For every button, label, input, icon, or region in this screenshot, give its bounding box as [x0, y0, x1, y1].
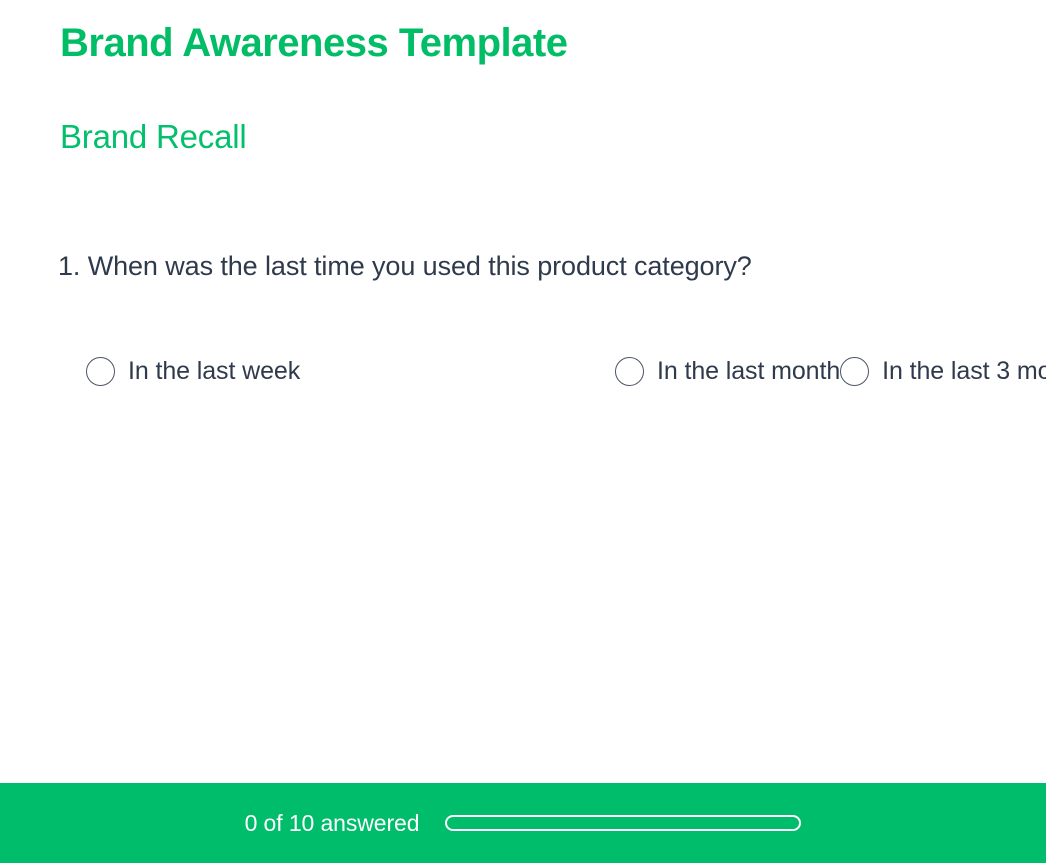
option-row[interactable]: In the last month: [615, 355, 840, 387]
question-text: 1. When was the last time you used this …: [58, 248, 1018, 284]
progress-bar: [445, 815, 801, 831]
option-row[interactable]: In the last 3 months: [840, 355, 1046, 387]
survey-header: Brand Awareness Template Brand Recall: [60, 20, 1020, 157]
survey-page: Brand Awareness Template Brand Recall 1.…: [0, 0, 1046, 863]
survey-title: Brand Awareness Template: [60, 20, 1020, 67]
option-label: In the last 3 months: [882, 359, 1046, 384]
survey-page-title: Brand Recall: [60, 117, 1020, 157]
question-block: 1. When was the last time you used this …: [58, 248, 1018, 284]
option-label: In the last week: [128, 359, 300, 384]
options-grid: In the last week In the last month In th…: [86, 355, 1026, 438]
option-row[interactable]: In the last week: [86, 355, 615, 387]
radio-button-icon[interactable]: [840, 357, 869, 386]
radio-button-icon[interactable]: [86, 357, 115, 386]
progress-text: 0 of 10 answered: [245, 810, 420, 837]
option-label: In the last month: [657, 359, 840, 384]
survey-footer: 0 of 10 answered: [0, 783, 1046, 863]
radio-button-icon[interactable]: [615, 357, 644, 386]
